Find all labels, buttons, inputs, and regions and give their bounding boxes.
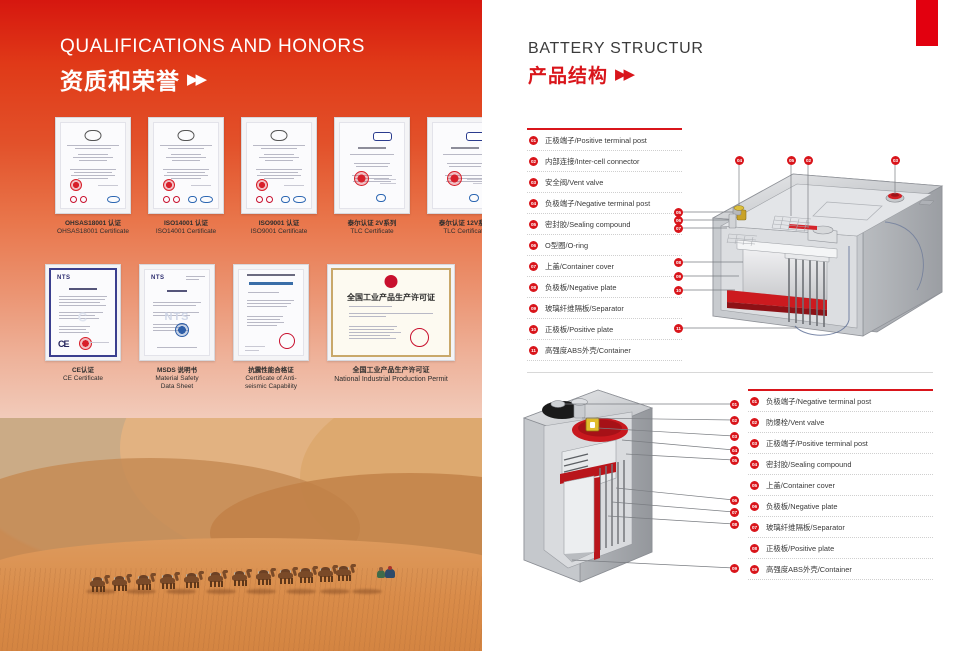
legend-badge: 08 bbox=[750, 544, 759, 553]
certificate-caption-en: Material Safety bbox=[155, 375, 198, 383]
certificate-card-ce[interactable]: NTS CE C CE认证 CE Certificate bbox=[45, 264, 121, 391]
certificate-caption-en2: seismic Capability bbox=[245, 383, 297, 391]
certificate-card-antiseismic[interactable]: 抗震性能合格证 Certificate of Anti- seismic Cap… bbox=[233, 264, 309, 391]
certificate-image bbox=[233, 264, 309, 361]
battery-title-cn: 产品结构 ▶▶ bbox=[528, 61, 704, 88]
red-corner-accent bbox=[916, 0, 938, 46]
certificate-caption: MSDS 说明书 Material Safety Data Sheet bbox=[155, 367, 198, 391]
battery-diagram-2v: 01 02 03 04 05 06 07 08 09 bbox=[502, 382, 752, 594]
red-seal-icon bbox=[279, 333, 295, 349]
legend-badge: 04 bbox=[750, 460, 759, 469]
permit-title-cn: 全国工业产品生产许可证 bbox=[333, 292, 449, 303]
certificate-image bbox=[427, 117, 482, 214]
legend-label: 密封胶/Sealing compound bbox=[766, 459, 851, 470]
certificate-image: 全国工业产品生产许可证 bbox=[327, 264, 455, 361]
certificate-caption-cn: ISO14001 认证 bbox=[156, 220, 216, 228]
battery-title-en: BATTERY STRUCTUR bbox=[528, 40, 704, 58]
camel bbox=[136, 575, 153, 590]
legend-item[interactable]: 06O型圈/O-ring bbox=[527, 235, 682, 256]
camel bbox=[112, 576, 129, 591]
certificate-caption-en: Certificate of Anti- bbox=[245, 375, 297, 383]
legend-badge: 05 bbox=[529, 220, 538, 229]
legend-label: 负极板/Negative plate bbox=[766, 501, 837, 512]
certificate-card-iso14001[interactable]: ISO14001 认证 ISO14001 Certificate bbox=[148, 117, 224, 236]
certificate-caption-en: TLC Certificate bbox=[439, 228, 482, 236]
certificate-caption-en: CE Certificate bbox=[63, 375, 103, 383]
watermark-text: NTS bbox=[165, 311, 190, 323]
certificate-image bbox=[334, 117, 410, 214]
camel-caravan bbox=[80, 550, 410, 596]
double-arrow-icon: ▶▶ bbox=[187, 72, 204, 87]
certificate-caption: ISO9001 认证 ISO9001 Certificate bbox=[251, 220, 308, 236]
camel bbox=[278, 569, 295, 584]
legend-label: 密封胶/Sealing compound bbox=[545, 219, 630, 230]
legend-item[interactable]: 04负极端子/Negative terminal post bbox=[527, 193, 682, 214]
callout-07: 07 bbox=[730, 508, 739, 517]
legend-item[interactable]: 01正极端子/Positive terminal post bbox=[527, 130, 682, 151]
certificate-card-tlc-12v[interactable]: 泰尔认证 12V系列 TLC Certificate bbox=[427, 117, 482, 236]
callout-01: 01 bbox=[730, 400, 739, 409]
battery-structure-header: BATTERY STRUCTUR 产品结构 ▶▶ bbox=[528, 40, 704, 88]
callout-06: 06 bbox=[730, 496, 739, 505]
page-root: QUALIFICATIONS AND HONORS 资质和荣誉 ▶▶ bbox=[0, 0, 960, 651]
camel bbox=[160, 574, 177, 589]
battery-structure-panel: BATTERY STRUCTUR 产品结构 ▶▶ 01正极端子/Positive… bbox=[482, 0, 960, 651]
certificate-caption-cn: ISO9001 认证 bbox=[251, 220, 308, 228]
certificate-caption: OHSAS18001 认证 OHSAS18001 Certificate bbox=[57, 220, 129, 236]
certificate-caption-cn: MSDS 说明书 bbox=[155, 367, 198, 375]
ce-mark-icon: CE bbox=[58, 339, 69, 349]
certificate-caption-cn: CE认证 bbox=[63, 367, 103, 375]
legend-label: 正极端子/Positive terminal post bbox=[545, 135, 647, 146]
certificate-caption-cn: 抗震性能合格证 bbox=[245, 367, 297, 375]
legend-badge: 08 bbox=[529, 283, 538, 292]
certificate-caption-cn: 全国工业产品生产许可证 bbox=[334, 367, 448, 376]
certificate-image bbox=[241, 117, 317, 214]
camel bbox=[256, 570, 273, 585]
certificate-row-top: OHSAS18001 认证 OHSAS18001 Certificate bbox=[55, 117, 482, 236]
legend-label: O型圈/O-ring bbox=[545, 240, 588, 251]
cnas-logo-icon bbox=[85, 130, 102, 141]
callout-04: 04 bbox=[730, 446, 739, 455]
red-round-seal-icon bbox=[410, 328, 429, 347]
legend-label: 高强度ABS外壳/Container bbox=[766, 564, 852, 575]
legend-badge: 02 bbox=[529, 157, 538, 166]
callout-02: 02 bbox=[804, 156, 813, 165]
red-seal-icon bbox=[354, 171, 369, 186]
legend-item[interactable]: 06负极板/Negative plate bbox=[748, 496, 933, 517]
certificate-caption-cn: OHSAS18001 认证 bbox=[57, 220, 129, 228]
certificate-caption-en: National Industrial Production Permit bbox=[334, 376, 448, 385]
certificate-caption-cn: 泰尔认证 2V系列 bbox=[348, 220, 397, 228]
certificate-image: NTS NTS bbox=[139, 264, 215, 361]
section-divider bbox=[527, 372, 933, 373]
legend-item[interactable]: 02内部连接/Inter-cell connector bbox=[527, 151, 682, 172]
qualifications-title-cn-text: 资质和荣誉 bbox=[60, 62, 180, 96]
certificate-caption: 泰尔认证 2V系列 TLC Certificate bbox=[348, 220, 397, 236]
qualifications-header: QUALIFICATIONS AND HONORS 资质和荣誉 ▶▶ bbox=[60, 36, 365, 96]
callout-04: 04 bbox=[735, 156, 744, 165]
legend-label: 防爆栓/Vent valve bbox=[766, 417, 824, 428]
cnas-logo-icon bbox=[271, 130, 288, 141]
legend-item[interactable]: 05上盖/Container cover bbox=[748, 475, 933, 496]
legend-label: 玻璃纤维隔板/Separator bbox=[545, 303, 624, 314]
legend-badge: 09 bbox=[529, 304, 538, 313]
legend-badge: 04 bbox=[529, 199, 538, 208]
battery-title-cn-text: 产品结构 bbox=[528, 61, 608, 88]
legend-label: 正极板/Positive plate bbox=[545, 324, 613, 335]
certificate-row-bottom: NTS CE C CE认证 CE Certificate bbox=[45, 264, 455, 391]
certificate-caption-en: ISO9001 Certificate bbox=[251, 228, 308, 236]
certificate-image: NTS CE C bbox=[45, 264, 121, 361]
certificate-card-msds[interactable]: NTS NTS MSDS 说明书 Material Safety Data bbox=[139, 264, 215, 391]
legend-top: 01正极端子/Positive terminal post 02内部连接/Int… bbox=[527, 128, 682, 361]
red-seal-icon bbox=[70, 179, 82, 191]
seated-traveler-2 bbox=[377, 567, 386, 578]
callout-07: 07 bbox=[674, 224, 683, 233]
certificate-card-iso9001[interactable]: ISO9001 认证 ISO9001 Certificate bbox=[241, 117, 317, 236]
qualifications-title-en: QUALIFICATIONS AND HONORS bbox=[60, 36, 365, 58]
legend-item[interactable]: 04密封胶/Sealing compound bbox=[748, 454, 933, 475]
legend-badge: 01 bbox=[529, 136, 538, 145]
callout-08: 08 bbox=[674, 258, 683, 267]
legend-badge: 10 bbox=[529, 325, 538, 334]
callout-03: 03 bbox=[891, 156, 900, 165]
callout-10: 10 bbox=[674, 286, 683, 295]
legend-badge: 07 bbox=[750, 523, 759, 532]
legend-badge: 06 bbox=[750, 502, 759, 511]
legend-badge: 07 bbox=[529, 262, 538, 271]
legend-label: 高强度ABS外壳/Container bbox=[545, 345, 631, 356]
legend-badge: 11 bbox=[529, 346, 538, 355]
legend-item[interactable]: 09玻璃纤维隔板/Separator bbox=[527, 298, 682, 319]
certificate-caption: ISO14001 认证 ISO14001 Certificate bbox=[156, 220, 216, 236]
legend-label: 正极板/Positive plate bbox=[766, 543, 834, 554]
legend-badge: 06 bbox=[529, 241, 538, 250]
qualifications-title-cn: 资质和荣誉 ▶▶ bbox=[60, 62, 365, 96]
red-seal-icon bbox=[256, 179, 268, 191]
legend-item[interactable]: 09高强度ABS外壳/Container bbox=[748, 559, 933, 580]
camel bbox=[336, 566, 353, 581]
tlc-logo-icon bbox=[466, 132, 482, 141]
certificate-caption: 泰尔认证 12V系列 TLC Certificate bbox=[439, 220, 482, 236]
camel bbox=[232, 571, 249, 586]
red-seal-icon bbox=[163, 179, 175, 191]
callout-05: 05 bbox=[730, 456, 739, 465]
legend-label: 安全阀/Vent valve bbox=[545, 177, 603, 188]
legend-item[interactable]: 03正极端子/Positive terminal post bbox=[748, 433, 933, 454]
camel bbox=[90, 577, 107, 592]
legend-item[interactable]: 05密封胶/Sealing compound bbox=[527, 214, 682, 235]
double-arrow-icon: ▶▶ bbox=[615, 67, 632, 82]
legend-badge: 02 bbox=[750, 418, 759, 427]
national-emblem-icon bbox=[385, 275, 398, 288]
legend-badge: 01 bbox=[750, 397, 759, 406]
camel bbox=[208, 572, 225, 587]
legend-item[interactable]: 08正极板/Positive plate bbox=[748, 538, 933, 559]
camel bbox=[318, 567, 335, 582]
callout-08: 08 bbox=[730, 520, 739, 529]
certificate-caption: 抗震性能合格证 Certificate of Anti- seismic Cap… bbox=[245, 367, 297, 391]
legend-item[interactable]: 11高强度ABS外壳/Container bbox=[527, 340, 682, 361]
camel bbox=[184, 573, 201, 588]
qualifications-panel: QUALIFICATIONS AND HONORS 资质和荣誉 ▶▶ bbox=[0, 0, 482, 651]
certificate-caption-en2: Data Sheet bbox=[155, 383, 198, 391]
legend-badge: 03 bbox=[750, 439, 759, 448]
certificate-image bbox=[148, 117, 224, 214]
legend-badge: 05 bbox=[750, 481, 759, 490]
legend-item[interactable]: 07上盖/Container cover bbox=[527, 256, 682, 277]
certificate-caption-cn: 泰尔认证 12V系列 bbox=[439, 220, 482, 228]
legend-label: 上盖/Container cover bbox=[545, 261, 614, 272]
certificate-image bbox=[55, 117, 131, 214]
legend-label: 内部连接/Inter-cell connector bbox=[545, 156, 639, 167]
tlc-logo-icon bbox=[373, 132, 392, 141]
legend-bottom: 01负极端子/Negative terminal post 02防爆栓/Vent… bbox=[748, 389, 933, 580]
callout-03: 03 bbox=[730, 432, 739, 441]
certificate-card-tlc-2v[interactable]: 泰尔认证 2V系列 TLC Certificate bbox=[334, 117, 410, 236]
legend-item[interactable]: 08负极板/Negative plate bbox=[527, 277, 682, 298]
certificate-caption-en: OHSAS18001 Certificate bbox=[57, 228, 129, 236]
legend-label: 负极板/Negative plate bbox=[545, 282, 616, 293]
callout-02: 02 bbox=[730, 416, 739, 425]
legend-label: 玻璃纤维隔板/Separator bbox=[766, 522, 845, 533]
legend-label: 正极端子/Positive terminal post bbox=[766, 438, 868, 449]
certificate-card-ohsas18001[interactable]: OHSAS18001 认证 OHSAS18001 Certificate bbox=[55, 117, 131, 236]
red-seal-icon bbox=[447, 171, 462, 186]
legend-label: 上盖/Container cover bbox=[766, 480, 835, 491]
certificate-caption: CE认证 CE Certificate bbox=[63, 367, 103, 383]
legend-label: 负极端子/Negative terminal post bbox=[545, 198, 650, 209]
legend-item[interactable]: 01负极端子/Negative terminal post bbox=[748, 391, 933, 412]
blue-seal-icon bbox=[79, 337, 92, 350]
battery-2v-svg bbox=[502, 382, 752, 594]
legend-item[interactable]: 07玻璃纤维隔板/Separator bbox=[748, 517, 933, 538]
desert-caravan-photo bbox=[0, 418, 482, 651]
battery-diagram-12v: 04 05 02 03 05 06 07 08 09 10 11 bbox=[677, 150, 952, 350]
nts-logo-text: NTS bbox=[151, 275, 165, 281]
certificate-caption-en: ISO14001 Certificate bbox=[156, 228, 216, 236]
legend-item[interactable]: 10正极板/Positive plate bbox=[527, 319, 682, 340]
legend-label: 负极端子/Negative terminal post bbox=[766, 396, 871, 407]
certificate-card-national-permit[interactable]: 全国工业产品生产许可证 全国工业产品生产许可证 National Industr… bbox=[327, 264, 455, 391]
seated-traveler bbox=[385, 565, 396, 578]
cnas-logo-icon bbox=[178, 130, 195, 141]
camel bbox=[298, 568, 315, 583]
blue-seal-icon bbox=[175, 323, 189, 337]
legend-badge: 03 bbox=[529, 178, 538, 187]
legend-item[interactable]: 02防爆栓/Vent valve bbox=[748, 412, 933, 433]
callout-05: 05 bbox=[787, 156, 796, 165]
callout-09: 09 bbox=[674, 272, 683, 281]
battery-12v-svg bbox=[677, 150, 952, 350]
nts-logo-text: NTS bbox=[57, 275, 71, 281]
legend-badge: 09 bbox=[750, 565, 759, 574]
callout-11: 11 bbox=[674, 324, 683, 333]
certificate-caption-en: TLC Certificate bbox=[348, 228, 397, 236]
callout-09: 09 bbox=[730, 564, 739, 573]
certificate-caption: 全国工业产品生产许可证 National Industrial Producti… bbox=[334, 367, 448, 385]
legend-item[interactable]: 03安全阀/Vent valve bbox=[527, 172, 682, 193]
